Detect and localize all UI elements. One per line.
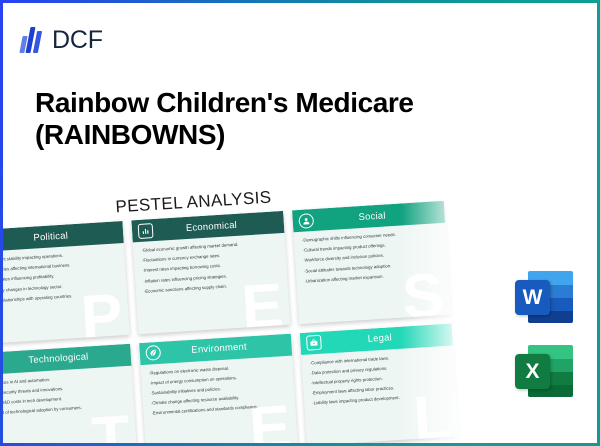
page-title: Rainbow Children's Medicare (RAINBOWNS) — [35, 87, 505, 151]
brand-logo-text: DCF — [52, 26, 103, 55]
pestel-card-environment: EnvironmentERegulations on electronic wa… — [139, 333, 298, 443]
pestel-card-technological: TechnologicalTAdvances in AI and automat… — [3, 343, 137, 443]
pestel-card-economical: EconomicalEGlobal economic growth affect… — [131, 211, 290, 334]
word-badge-letter: W — [515, 280, 550, 315]
pestel-card-body-political: PGovernment stability impacting operatio… — [3, 243, 130, 344]
microsoft-excel-icon[interactable]: X — [515, 345, 573, 407]
excel-badge-letter: X — [515, 354, 550, 389]
user-icon — [298, 212, 314, 228]
download-formats: W X — [515, 271, 573, 407]
pestel-card-body-economical: EGlobal economic growth affecting market… — [133, 233, 290, 334]
page-title-line-2: (RAINBOWNS) — [35, 119, 505, 151]
pestel-ghost-letter-technological: T — [90, 407, 132, 443]
leaf-icon — [145, 345, 161, 361]
pestel-bullet: Speed of technological adoption by consu… — [3, 403, 127, 416]
page-canvas: DCF Rainbow Children's Medicare (RAINBOW… — [3, 3, 597, 443]
page-title-line-1: Rainbow Children's Medicare — [35, 87, 505, 119]
pestel-card-title-technological: Technological — [3, 349, 131, 368]
bars-logo-icon — [21, 25, 45, 55]
image-fade-overlay — [401, 185, 521, 443]
brand-logo[interactable]: DCF — [21, 25, 103, 55]
pestel-card-body-technological: TAdvances in AI and automation.Cybersecu… — [3, 365, 137, 443]
bar-chart-icon — [138, 223, 154, 239]
pestel-card-grid: PoliticalPGovernment stability impacting… — [3, 201, 459, 443]
pestel-card-title-environment: Environment — [160, 339, 291, 358]
pestel-bullet: Environmental certifications and standar… — [151, 403, 288, 416]
pestel-card-political: PoliticalPGovernment stability impacting… — [3, 221, 130, 344]
briefcase-icon — [306, 335, 322, 351]
pestel-bullet: Economic sanctions affecting supply chai… — [144, 281, 281, 294]
pestel-card-body-environment: ERegulations on electronic waste disposa… — [140, 355, 297, 443]
microsoft-word-icon[interactable]: W — [515, 271, 573, 333]
pestel-card-title-economical: Economical — [153, 216, 284, 235]
pestel-bullet: Political relationships with operating c… — [3, 291, 120, 304]
page-root: DCF Rainbow Children's Medicare (RAINBOW… — [0, 0, 600, 446]
pestel-card-title-political: Political — [3, 226, 123, 245]
